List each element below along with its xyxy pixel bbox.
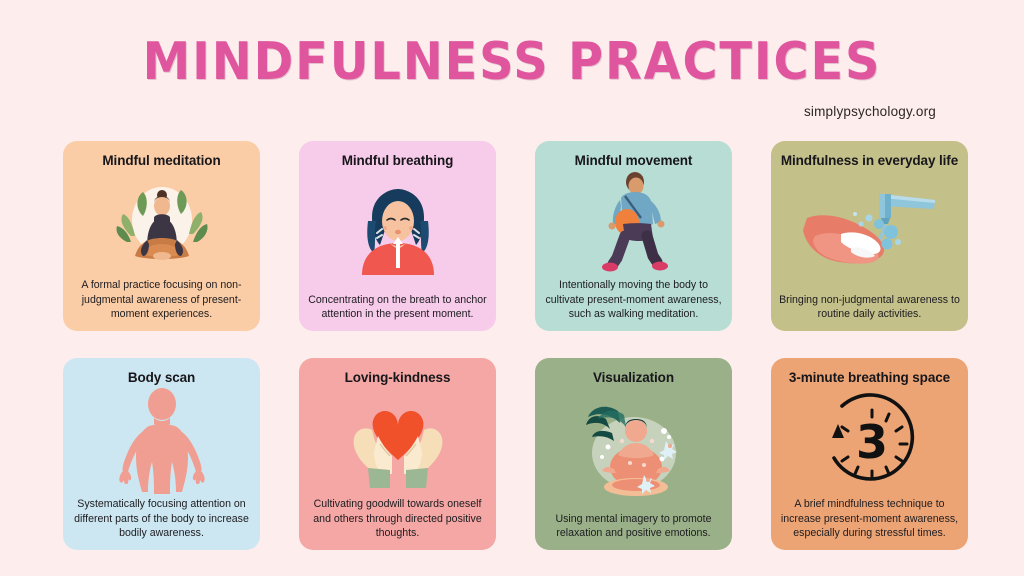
human-body-silhouette-icon: [71, 386, 252, 497]
woman-breathing-arrow-icon: [307, 169, 488, 293]
attribution-text: simplypsychology.org: [804, 104, 936, 119]
practice-card-grid: Mindful meditation: [63, 141, 968, 550]
clock-number: 3: [855, 415, 887, 469]
page-title: MINDFULNESS PRACTICES: [41, 32, 983, 92]
card-title: Mindful meditation: [102, 153, 220, 169]
card-description: Bringing non-judgmental awareness to rou…: [779, 293, 960, 322]
card-description: Using mental imagery to promote relaxati…: [543, 512, 724, 541]
card-body-scan[interactable]: Body scan Systematically focusing attent…: [63, 358, 260, 550]
card-title: Mindful movement: [575, 153, 693, 169]
card-title: Visualization: [593, 370, 674, 386]
card-three-minute-breathing-space[interactable]: 3-minute breathing space: [771, 358, 968, 550]
card-description: A brief mindfulness technique to increas…: [779, 497, 960, 541]
card-description: Intentionally moving the body to cultiva…: [543, 278, 724, 322]
card-loving-kindness[interactable]: Loving-kindness Cultivating goodwill tow…: [299, 358, 496, 550]
card-visualization[interactable]: Visualization: [535, 358, 732, 550]
person-lotus-meditation-icon: [71, 169, 252, 278]
card-title: Mindfulness in everyday life: [781, 153, 958, 169]
woman-meditating-flowers-icon: [543, 386, 724, 512]
card-description: Systematically focusing attention on dif…: [71, 497, 252, 541]
hands-holding-heart-icon: [307, 386, 488, 497]
card-mindful-meditation[interactable]: Mindful meditation: [63, 141, 260, 331]
infographic-page: MINDFULNESS PRACTICES simplypsychology.o…: [0, 0, 1024, 576]
man-walking-icon: [543, 169, 724, 278]
card-mindful-movement[interactable]: Mindful movement: [535, 141, 732, 331]
clock-timer-three-minutes-icon: 3: [779, 386, 960, 497]
card-mindfulness-everyday-life[interactable]: Mindfulness in everyday life: [771, 141, 968, 331]
card-description: Cultivating goodwill towards oneself and…: [307, 497, 488, 541]
card-title: Loving-kindness: [345, 370, 451, 386]
card-description: A formal practice focusing on non-judgme…: [71, 278, 252, 322]
card-description: Concentrating on the breath to anchor at…: [307, 293, 488, 322]
card-title: 3-minute breathing space: [789, 370, 950, 386]
card-mindful-breathing[interactable]: Mindful breathing: [299, 141, 496, 331]
hands-washing-faucet-icon: [779, 169, 960, 293]
card-title: Mindful breathing: [342, 153, 454, 169]
card-title: Body scan: [128, 370, 195, 386]
